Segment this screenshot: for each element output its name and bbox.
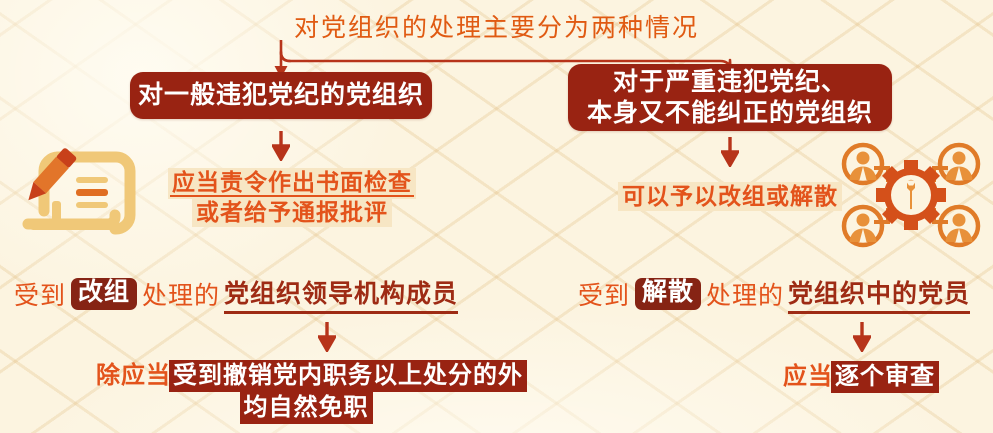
action-left-line1: 应当责令作出书面检查 (170, 170, 414, 197)
subject-line-left: 受到 改组 处理的 党组织领导机构成员 (14, 274, 458, 314)
subject-line-right: 受到 解散 处理的 党组织中的党员 (578, 274, 970, 314)
subject-right-middle: 处理的 (706, 276, 784, 312)
action-left-line2: 或者给予通报批评 (194, 200, 390, 225)
arrow-down-right-2 (853, 322, 871, 352)
subject-left-badge: 改组 (71, 278, 137, 309)
category-box-left-label: 对一般违犯党纪的党组织 (138, 80, 424, 111)
arrow-down-left-1 (272, 131, 290, 161)
subject-left-emphasis: 党组织领导机构成员 (224, 274, 458, 314)
result-left-inverted-line2: 均自然免职 (242, 394, 371, 422)
document-pencil-icon (14, 143, 142, 243)
result-left-lead: 除应当 (96, 363, 171, 389)
arrow-down-left-2 (318, 322, 336, 352)
result-line-right: 应当逐个审查 (750, 361, 970, 393)
action-text-left: 应当责令作出书面检查 或者给予通报批评 (132, 168, 452, 229)
subject-left-prefix: 受到 (14, 276, 66, 312)
category-box-right-label-line2: 本身又不能纠正的党组织 (587, 98, 873, 129)
arrow-down-right-1 (721, 137, 739, 167)
subject-right-emphasis: 党组织中的党员 (788, 274, 970, 314)
result-right-inverted-line1: 逐个审查 (833, 363, 937, 391)
subject-left-middle: 处理的 (142, 276, 220, 312)
category-box-left[interactable]: 对一般违犯党纪的党组织 (130, 72, 432, 119)
subject-right-badge: 解散 (635, 278, 701, 309)
category-box-right[interactable]: 对于严重违犯党纪、 本身又不能纠正的党组织 (568, 64, 892, 131)
page-title: 对党组织的处理主要分为两种情况 (0, 8, 993, 44)
subject-right-prefix: 受到 (578, 276, 630, 312)
action-text-right: 可以予以改组或解散 (580, 182, 880, 212)
infographic-canvas: 对党组织的处理主要分为两种情况 对一般违犯党纪的党组织 对于严重违犯党纪、 本身… (0, 0, 993, 433)
action-right-line1: 可以予以改组或解散 (620, 184, 840, 209)
result-right-lead: 应当 (783, 364, 833, 390)
category-box-right-label-line1: 对于严重违犯党纪、 (613, 67, 847, 98)
result-line-left: 除应当受到撤销党内职务以上处分的外 均自然免职 (96, 360, 516, 425)
result-left-inverted-line1: 受到撤销党内职务以上处分的外 (171, 362, 525, 390)
